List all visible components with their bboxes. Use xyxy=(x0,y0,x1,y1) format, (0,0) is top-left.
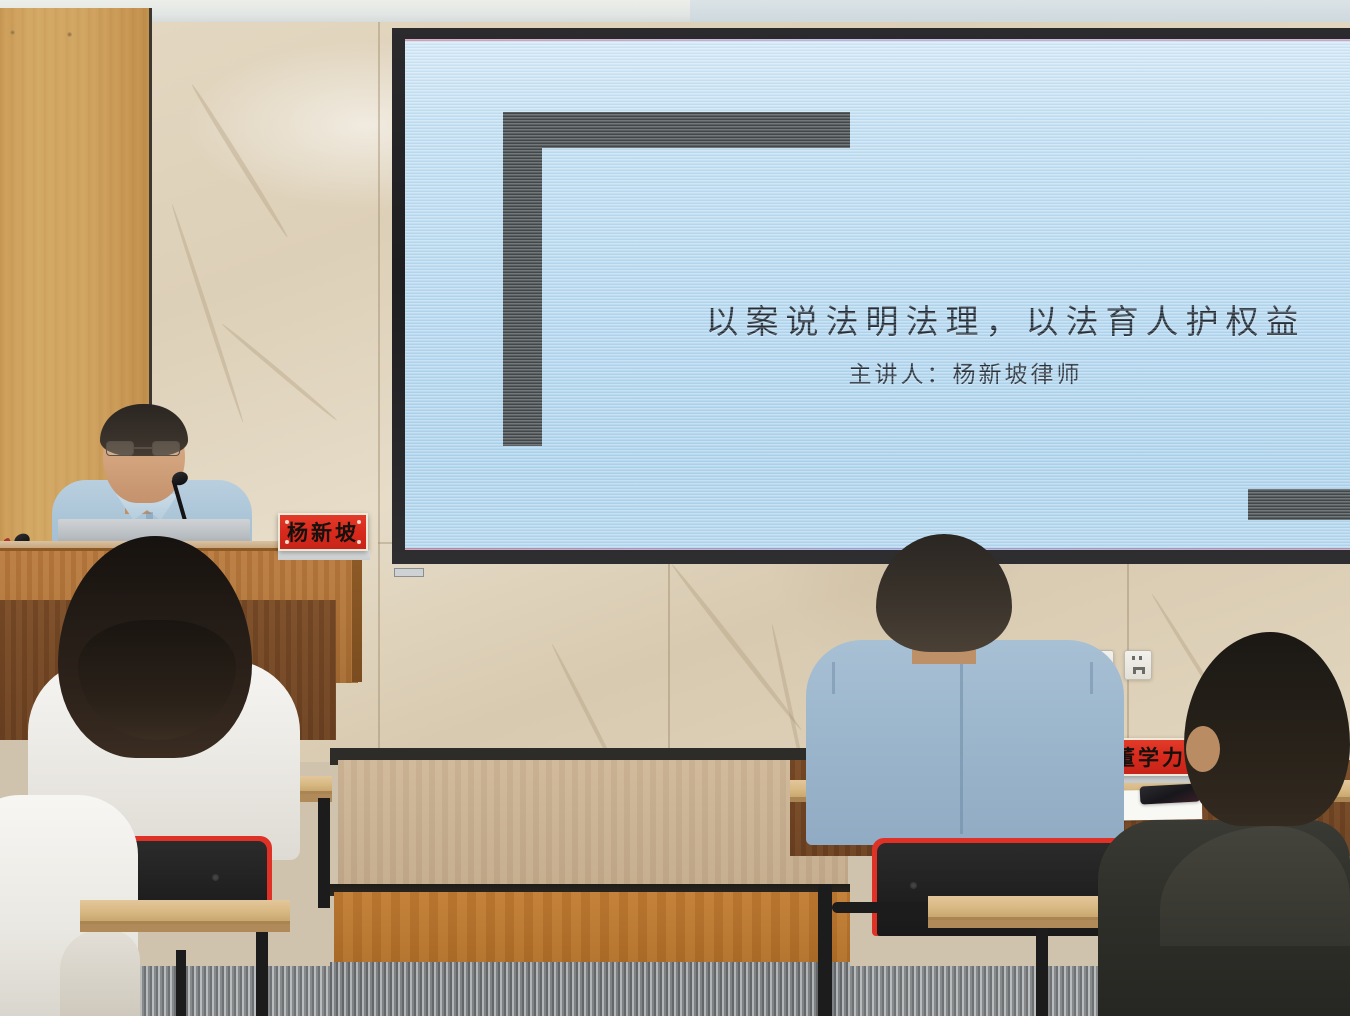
slide-bracket-vertical xyxy=(503,112,542,446)
floor-carpet-stage-area xyxy=(330,962,850,1016)
desk-row-left-lower xyxy=(80,900,290,926)
nameplate-speaker: 杨新坡 xyxy=(278,513,368,551)
speaker-glasses xyxy=(106,441,180,456)
desk-leg-left-lower-2 xyxy=(176,950,186,1016)
stage-front-panel xyxy=(338,760,848,887)
screen-top-glow xyxy=(405,39,1350,41)
presentation-screen: 以案说法明法理，以法育人护权益 主讲人：杨新坡律师 xyxy=(405,39,1350,550)
attendee-far-left-arm xyxy=(60,930,140,1016)
desk-leg-left-lower xyxy=(256,932,268,1016)
lecture-hall-scene: 以案说法明法理，以法育人护权益 主讲人：杨新坡律师 xyxy=(0,0,1350,1016)
slide-subtitle: 主讲人：杨新坡律师 xyxy=(405,355,1350,389)
slide-title: 以案说法明法理，以法育人护权益 xyxy=(405,295,1350,343)
attendee-center-shoulder-seam-left xyxy=(832,662,835,694)
attendee-center-torso xyxy=(806,640,1124,845)
nameplate-attendee-text: 董学力 xyxy=(1114,742,1186,772)
screen-bottom-glow xyxy=(405,548,1350,550)
attendee-center-shoulder-seam-right xyxy=(1090,662,1093,694)
nameplate-speaker-text: 杨新坡 xyxy=(287,517,359,547)
desk-leg-center xyxy=(818,884,832,1016)
slide-bar-bottom-right xyxy=(1248,489,1350,520)
led-display-bezel: 以案说法明法理，以法育人护权益 主讲人：杨新坡律师 xyxy=(392,28,1350,564)
desk-edge-left-lower xyxy=(80,924,290,932)
attendee-right-ear xyxy=(1186,726,1220,772)
wall-outlet-right xyxy=(1124,650,1152,680)
attendee-center-shirt-seam xyxy=(960,648,963,834)
podium-side-edge xyxy=(352,560,362,682)
chair-rail-center xyxy=(832,902,942,913)
podium-nameplate-shelf xyxy=(278,550,370,560)
desk-leg-left-upper xyxy=(318,798,330,908)
desk-leg-right-lower xyxy=(1036,928,1048,1016)
screen-label-badge xyxy=(394,568,424,577)
slide-bracket-horizontal xyxy=(503,112,850,148)
